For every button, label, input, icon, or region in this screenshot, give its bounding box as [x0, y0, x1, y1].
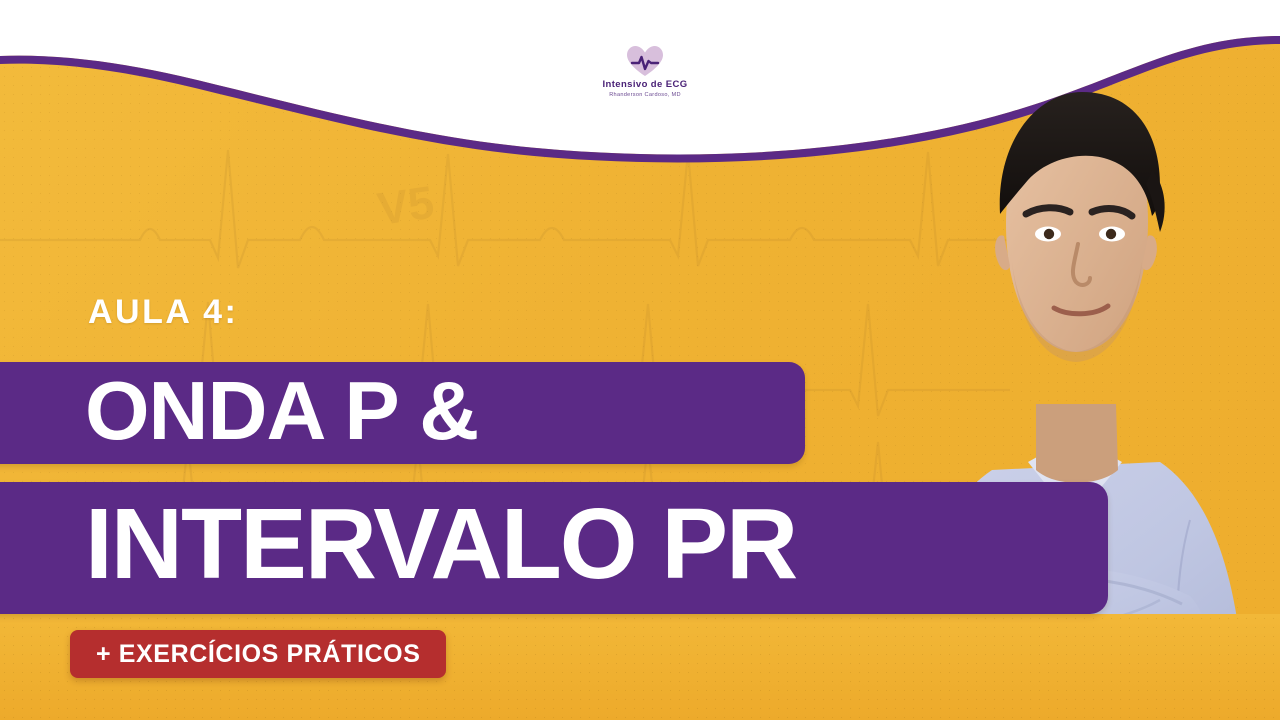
slide-canvas: V5 Intensivo de ECG Rhanderson Cardoso, … [0, 0, 1280, 720]
ecg-lead-label: V5 [374, 176, 437, 235]
status-badge: + EXERCÍCIOS PRÁTICOS [70, 630, 446, 678]
title-line-1: ONDA P & [85, 369, 478, 452]
title-line-2: INTERVALO PR [85, 494, 796, 594]
brand-logo: Intensivo de ECG Rhanderson Cardoso, MD [560, 44, 730, 98]
title-bar-line-2: INTERVALO PR [0, 482, 1108, 614]
heart-with-ecg-icon [625, 44, 665, 78]
brand-name: Intensivo de ECG [560, 79, 730, 90]
title-bar-line-1: ONDA P & [0, 362, 805, 464]
lesson-label: AULA 4: [88, 293, 238, 332]
brand-subtitle: Rhanderson Cardoso, MD [560, 92, 730, 98]
